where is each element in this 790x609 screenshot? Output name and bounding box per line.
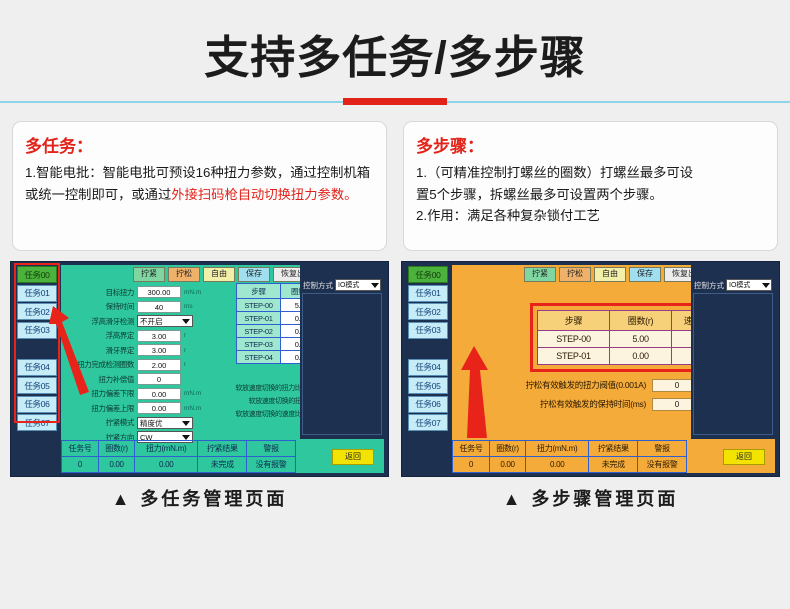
result-cell: 0 — [453, 457, 490, 473]
param-label: 滑牙界定 — [67, 345, 137, 356]
result-col-header: 扭力(mN.m) — [526, 441, 589, 457]
chevron-down-icon[interactable] — [371, 283, 379, 288]
param-label: 保持时间 — [67, 301, 137, 312]
toolbar-tighten-button[interactable]: 拧紧 — [524, 267, 556, 282]
card-title: 多任务： — [25, 132, 374, 157]
chevron-down-icon[interactable] — [182, 421, 190, 426]
threshold-row: 拧松有效触发的保持时间(ms)0 — [480, 396, 702, 412]
task-item-02[interactable]: 任务02 — [17, 303, 57, 320]
table-row: 0 0.00 0.00 未完成 没有报警 — [62, 457, 296, 473]
task-item-01[interactable]: 任务01 — [17, 285, 57, 302]
param-row: 浮高界定3.00r — [67, 329, 227, 343]
param-row: 浮高滑牙检测不开启 — [67, 314, 227, 328]
param-value[interactable]: 3.00 — [137, 330, 181, 342]
control-mode-select[interactable]: IO模式 — [335, 279, 381, 291]
param-value[interactable]: 40 — [137, 301, 181, 313]
task-item-00[interactable]: 任务00 — [408, 266, 448, 283]
param-label: 浮高滑牙检测 — [67, 316, 137, 327]
param-label: 扭力补偿值 — [67, 374, 137, 385]
multistep-body: 拧紧 拧松 自由 保存 恢复出厂 步骤 圈数(r) 速度(rpm) STEP-0… — [452, 265, 775, 473]
step-name: STEP-01 — [538, 348, 610, 365]
param-select-value: 精度优 — [140, 419, 163, 428]
screenshot-row: 任务00 任务01 任务02 任务03 任务04 任务05 任务06 任务07 … — [0, 251, 790, 477]
result-cell: 0.00 — [526, 457, 589, 473]
result-col-header: 警报 — [247, 441, 296, 457]
step-name: STEP-00 — [237, 299, 281, 312]
threshold-group: 拧松有效触发的扭力阀值(0.001A)0 拧松有效触发的保持时间(ms)0 — [480, 377, 702, 415]
param-label: 扭力完成检测圈数 — [67, 359, 137, 370]
param-value[interactable]: 3.00 — [137, 344, 181, 356]
param-label: 扭力偏差上限 — [67, 403, 137, 414]
result-bar: 任务号 圈数(r) 扭力(mN.m) 拧紧结果 警报 0 0.00 0.00 未… — [61, 440, 296, 472]
task-item-04[interactable]: 任务04 — [408, 359, 448, 376]
chevron-down-icon[interactable] — [182, 319, 190, 324]
card-line: 1.（可精准控制打螺丝的圈数）打螺丝最多可设 — [416, 162, 765, 184]
task-item-05[interactable]: 任务05 — [408, 377, 448, 394]
feature-cards: 多任务： 1.智能电批：智能电批可预设16种扭力参数，通过控制机箱或统一控制即可… — [0, 109, 790, 251]
task-item-06[interactable]: 任务06 — [17, 396, 57, 413]
task-item-00[interactable]: 任务00 — [17, 266, 57, 283]
multistep-screen: 任务00 任务01 任务02 任务03 任务04 任务05 任务06 任务07 … — [401, 261, 780, 477]
task-item-06[interactable]: 任务06 — [408, 396, 448, 413]
result-col-header: 拧紧结果 — [589, 441, 638, 457]
control-mode-label: 控制方式 — [694, 280, 724, 291]
result-header-row: 任务号 圈数(r) 扭力(mN.m) 拧紧结果 警报 — [453, 441, 687, 457]
result-cell: 0 — [62, 457, 99, 473]
threshold-label: 拧松有效触发的扭力阀值(0.001A) — [480, 379, 652, 391]
param-select[interactable]: 不开启 — [137, 315, 193, 327]
card-body: 1.（可精准控制打螺丝的圈数）打螺丝最多可设 置5个步骤，拆螺丝最多可设置两个步… — [416, 162, 765, 227]
param-unit: ms — [181, 303, 193, 310]
param-label: 浮高界定 — [67, 330, 137, 341]
toolbar-loosen-button[interactable]: 拧松 — [559, 267, 591, 282]
step-col-header: 步骤 — [538, 311, 610, 331]
multitask-screen: 任务00 任务01 任务02 任务03 任务04 任务05 任务06 任务07 … — [10, 261, 389, 477]
control-mode-row: 控制方式 IO模式 — [303, 279, 381, 291]
param-unit: r — [181, 332, 186, 339]
param-unit: mN.m — [181, 289, 201, 296]
step-name: STEP-04 — [237, 351, 281, 364]
step-turns[interactable]: 0.00 — [610, 348, 672, 365]
toolbar-free-button[interactable]: 自由 — [203, 267, 235, 282]
task-list: 任务00 任务01 任务02 任务03 任务04 任务05 任务06 任务07 — [408, 266, 448, 452]
control-panel-box — [302, 293, 382, 435]
card-multistep: 多步骤： 1.（可精准控制打螺丝的圈数）打螺丝最多可设 置5个步骤，拆螺丝最多可… — [403, 121, 778, 251]
param-select[interactable]: 精度优 — [137, 417, 193, 429]
caption-row: ▲ 多任务管理页面 ▲ 多步骤管理页面 — [0, 477, 790, 511]
result-table: 任务号 圈数(r) 扭力(mN.m) 拧紧结果 警报 0 0.00 0.00 未… — [452, 440, 687, 473]
param-value[interactable]: 2.00 — [137, 359, 181, 371]
step-name: STEP-02 — [237, 325, 281, 338]
toolbar-save-button[interactable]: 保存 — [629, 267, 661, 282]
task-list: 任务00 任务01 任务02 任务03 任务04 任务05 任务06 任务07 — [17, 266, 57, 452]
result-col-header: 任务号 — [62, 441, 99, 457]
card-line: 置5个步骤，拆螺丝最多可设置两个步骤。 — [416, 184, 765, 206]
toolbar: 拧紧 拧松 自由 保存 恢复出厂 — [524, 267, 712, 282]
param-value[interactable]: 0.00 — [137, 388, 181, 400]
multitask-body: 拧紧 拧松 自由 保存 恢复出厂 目标扭力300.00mN.m 保持时间40ms… — [61, 265, 384, 473]
step-col-header: 步骤 — [237, 284, 281, 299]
param-select-value: 不开启 — [140, 317, 163, 326]
control-panel-box — [693, 293, 773, 435]
result-table: 任务号 圈数(r) 扭力(mN.m) 拧紧结果 警报 0 0.00 0.00 未… — [61, 440, 296, 473]
param-row: 扭力完成检测圈数2.00r — [67, 358, 227, 372]
toolbar-tighten-button[interactable]: 拧紧 — [133, 267, 165, 282]
result-col-header: 扭力(mN.m) — [135, 441, 198, 457]
result-cell: 未完成 — [198, 457, 247, 473]
threshold-label: 软放速度切换的扭力比值 — [193, 383, 311, 393]
toolbar-free-button[interactable]: 自由 — [594, 267, 626, 282]
threshold-label: 拧松有效触发的保持时间(ms) — [480, 398, 652, 410]
result-cell: 没有报警 — [638, 457, 687, 473]
result-bar: 任务号 圈数(r) 扭力(mN.m) 拧紧结果 警报 0 0.00 0.00 未… — [452, 440, 687, 472]
result-cell: 0.00 — [98, 457, 134, 473]
result-col-header: 圈数(r) — [98, 441, 134, 457]
param-unit: r — [181, 347, 186, 354]
param-row: 滑牙界定3.00r — [67, 343, 227, 357]
page-title: 支持多任务/多步骤 — [0, 34, 790, 81]
threshold-label: 软放速度切换的扭力 — [193, 396, 311, 406]
title-divider — [0, 95, 790, 109]
table-row: 0 0.00 0.00 未完成 没有报警 — [453, 457, 687, 473]
divider-accent — [343, 98, 447, 105]
task-item-07[interactable]: 任务07 — [17, 414, 57, 431]
card-line: 1.智能电批：智能电批可预设16种扭力参数，通 — [25, 165, 304, 180]
result-cell: 0.00 — [489, 457, 525, 473]
result-col-header: 拧紧结果 — [198, 441, 247, 457]
control-mode-value: IO模式 — [729, 280, 750, 290]
caption-multistep: ▲ 多步骤管理页面 — [401, 485, 780, 511]
toolbar: 拧紧 拧松 自由 保存 恢复出厂 — [133, 267, 321, 282]
card-line-highlight: 外接扫码枪自动切换扭力参数。 — [171, 187, 357, 202]
step-name: STEP-03 — [237, 338, 281, 351]
card-line: 2.作用：满足各种复杂锁付工艺 — [416, 205, 765, 227]
step-col-header: 圈数(r) — [610, 311, 672, 331]
result-col-header: 圈数(r) — [489, 441, 525, 457]
parameter-form: 目标扭力300.00mN.m 保持时间40ms 浮高滑牙检测不开启 浮高界定3.… — [67, 285, 227, 445]
param-label: 扭力偏差下限 — [67, 388, 137, 399]
caption-multitask: ▲ 多任务管理页面 — [10, 485, 389, 511]
back-button[interactable]: 返回 — [723, 449, 765, 465]
task-item-07[interactable]: 任务07 — [408, 414, 448, 431]
result-col-header: 警报 — [638, 441, 687, 457]
control-mode-label: 控制方式 — [303, 280, 333, 291]
threshold-row: 拧松有效触发的扭力阀值(0.001A)0 — [480, 377, 702, 393]
control-mode-value: IO模式 — [338, 280, 359, 290]
task-item-02[interactable]: 任务02 — [408, 303, 448, 320]
result-cell: 未完成 — [589, 457, 638, 473]
card-multitask: 多任务： 1.智能电批：智能电批可预设16种扭力参数，通过控制机箱或统一控制即可… — [12, 121, 387, 251]
step-turns[interactable]: 5.00 — [610, 331, 672, 348]
card-title: 多步骤： — [416, 132, 765, 157]
param-value[interactable]: 0.00 — [137, 402, 181, 414]
step-name: STEP-01 — [237, 312, 281, 325]
result-cell: 0.00 — [135, 457, 198, 473]
param-label: 拧紧模式 — [67, 417, 137, 428]
control-mode-row: 控制方式 IO模式 — [694, 279, 772, 291]
param-row: 保持时间40ms — [67, 300, 227, 314]
param-label: 目标扭力 — [67, 287, 137, 298]
back-button[interactable]: 返回 — [332, 449, 374, 465]
card-body: 1.智能电批：智能电批可预设16种扭力参数，通过控制机箱或统一控制即可，或通过外… — [25, 162, 374, 205]
toolbar-save-button[interactable]: 保存 — [238, 267, 270, 282]
param-row: 目标扭力300.00mN.m — [67, 285, 227, 299]
param-unit: r — [181, 361, 186, 368]
control-column: 控制方式 IO模式 — [300, 265, 384, 439]
task-item-04[interactable]: 任务04 — [17, 359, 57, 376]
result-cell: 没有报警 — [247, 457, 296, 473]
result-header-row: 任务号 圈数(r) 扭力(mN.m) 拧紧结果 警报 — [62, 441, 296, 457]
threshold-label: 软放速度切换的速度比值 — [193, 409, 311, 419]
task-item-03[interactable]: 任务03 — [17, 322, 57, 339]
control-column: 控制方式 IO模式 — [691, 265, 775, 439]
param-value[interactable]: 0 — [137, 373, 181, 385]
task-item-01[interactable]: 任务01 — [408, 285, 448, 302]
page-header: 支持多任务/多步骤 — [0, 0, 790, 109]
step-name: STEP-00 — [538, 331, 610, 348]
toolbar-loosen-button[interactable]: 拧松 — [168, 267, 200, 282]
control-mode-select[interactable]: IO模式 — [726, 279, 772, 291]
param-value[interactable]: 300.00 — [137, 286, 181, 298]
chevron-down-icon[interactable] — [762, 283, 770, 288]
result-col-header: 任务号 — [453, 441, 490, 457]
task-item-05[interactable]: 任务05 — [17, 377, 57, 394]
task-item-03[interactable]: 任务03 — [408, 322, 448, 339]
